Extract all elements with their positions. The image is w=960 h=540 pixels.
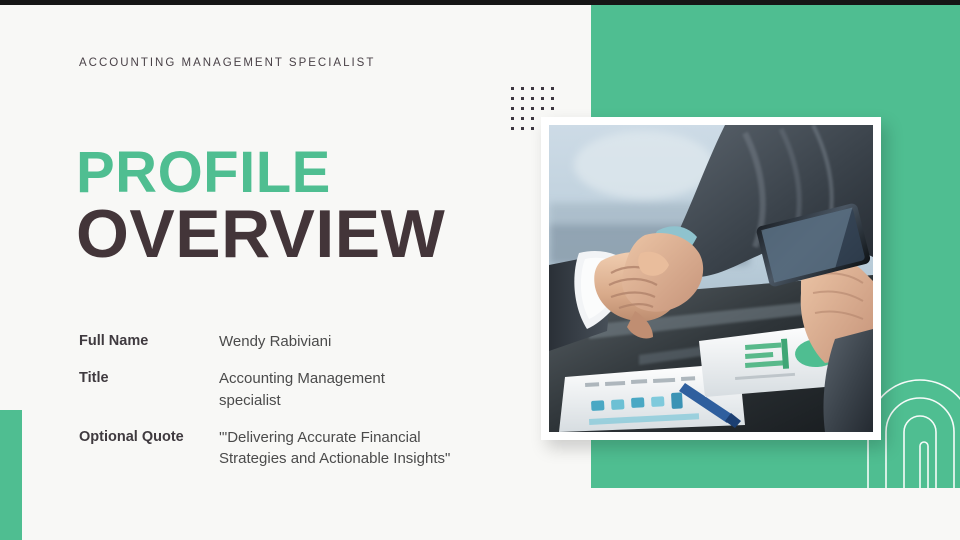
dark-top-strip xyxy=(0,0,960,5)
grid-dot xyxy=(521,127,524,130)
title-line-overview: OVERVIEW xyxy=(76,202,445,267)
grid-dot xyxy=(521,107,524,110)
grid-dot xyxy=(551,87,554,90)
profile-details: Full Name Wendy Rabiviani Title Accounti… xyxy=(79,331,499,469)
detail-row-title: Title Accounting Management specialist xyxy=(79,368,499,411)
green-accent-bar xyxy=(0,410,22,540)
grid-dot xyxy=(551,97,554,100)
grid-dot xyxy=(511,127,514,130)
detail-label: Optional Quote xyxy=(79,427,219,446)
grid-dot xyxy=(511,97,514,100)
grid-dot xyxy=(511,117,514,120)
title-line-profile: PROFILE xyxy=(76,145,445,200)
grid-dot xyxy=(511,87,514,90)
grid-dot xyxy=(541,87,544,90)
grid-dot xyxy=(541,97,544,100)
grid-dot xyxy=(551,107,554,110)
grid-dot xyxy=(521,97,524,100)
photo-frame xyxy=(541,117,881,440)
grid-dot xyxy=(531,117,534,120)
grid-dot xyxy=(531,127,534,130)
detail-value: Wendy Rabiviani xyxy=(219,331,499,352)
grid-dot xyxy=(531,97,534,100)
page-title: PROFILE OVERVIEW xyxy=(76,145,445,267)
detail-label: Title xyxy=(79,368,219,387)
detail-value: Accounting Management specialist xyxy=(219,368,499,411)
grid-dot xyxy=(541,107,544,110)
detail-row-optional-quote: Optional Quote '"Delivering Accurate Fin… xyxy=(79,427,499,470)
grid-dot xyxy=(531,87,534,90)
grid-dot xyxy=(511,107,514,110)
detail-value: '"Delivering Accurate Financial Strategi… xyxy=(219,427,499,470)
detail-label: Full Name xyxy=(79,331,219,350)
handshake-photo xyxy=(549,125,873,432)
grid-dot xyxy=(521,87,524,90)
grid-dot xyxy=(531,107,534,110)
detail-row-full-name: Full Name Wendy Rabiviani xyxy=(79,331,499,352)
handshake-photo-graphic xyxy=(549,125,873,432)
grid-dot xyxy=(521,117,524,120)
eyebrow-text: ACCOUNTING MANAGEMENT SPECIALIST xyxy=(79,57,375,69)
slide-canvas: ACCOUNTING MANAGEMENT SPECIALIST PROFILE… xyxy=(0,0,960,540)
